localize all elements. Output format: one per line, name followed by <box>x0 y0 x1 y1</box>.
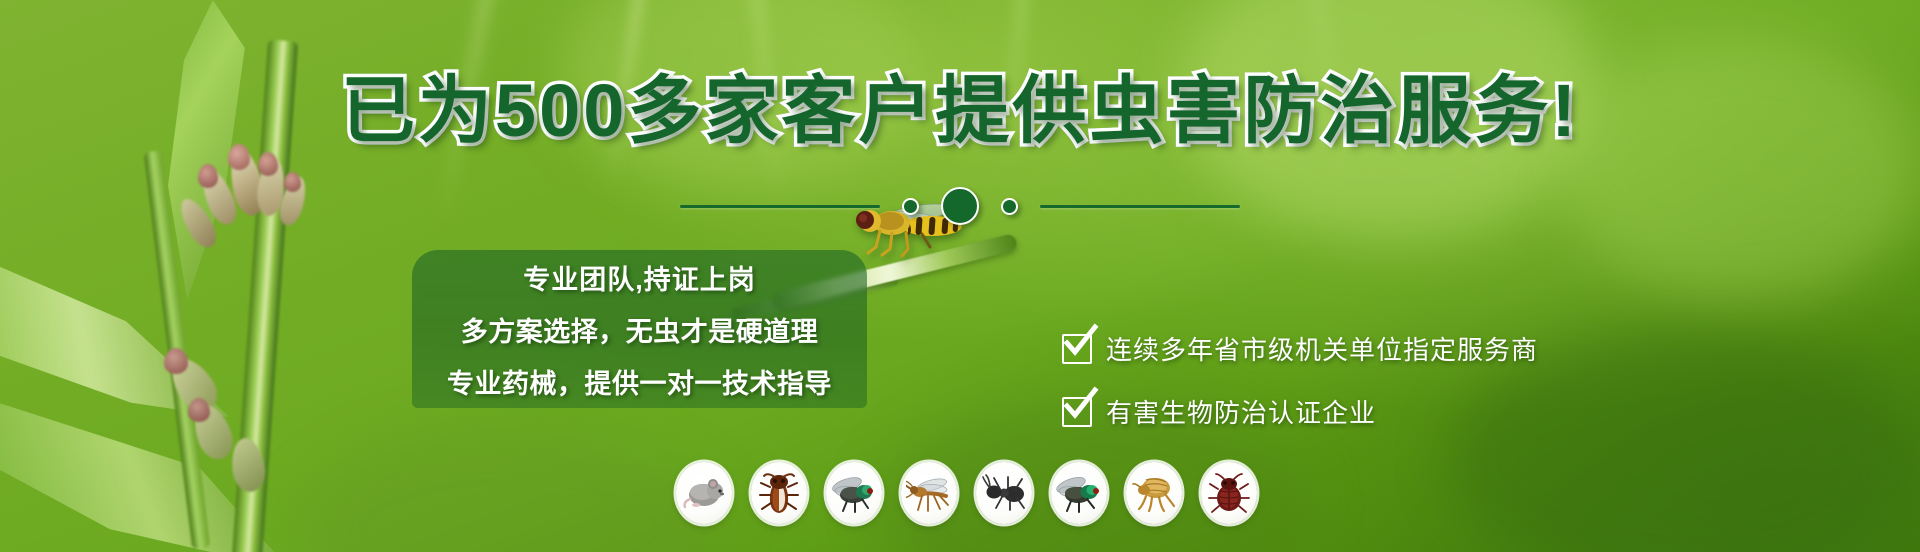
credentials-list: 连续多年省市级机关单位指定服务商 有害生物防治认证企业 <box>1062 330 1662 456</box>
slogan-line-3: 专业药械，提供一对一技术指导 <box>447 362 832 401</box>
pest-icon-strip <box>676 462 1257 524</box>
credential-text: 连续多年省市级机关单位指定服务商 <box>1106 330 1538 367</box>
decorative-divider <box>0 188 1920 224</box>
mouse-icon[interactable] <box>676 462 732 524</box>
cockroach-icon[interactable] <box>751 462 807 524</box>
headline-text: 已为500多家客户提供虫害防治服务! <box>341 69 1579 152</box>
slogan-line-1: 专业团队,持证上岗 <box>523 258 756 297</box>
flower-bud-tip <box>198 164 218 188</box>
slogan-panel: 专业团队,持证上岗 多方案选择，无虫才是硬道理 专业药械，提供一对一技术指导 <box>412 250 867 408</box>
slogan-line-2: 多方案选择，无虫才是硬道理 <box>461 310 819 349</box>
list-item: 有害生物防治认证企业 <box>1062 393 1662 430</box>
credential-text: 有害生物防治认证企业 <box>1106 393 1376 430</box>
seed-pod-tip <box>164 348 188 374</box>
list-item: 连续多年省市级机关单位指定服务商 <box>1062 330 1662 367</box>
bedbug-icon[interactable] <box>1201 462 1257 524</box>
fly-icon[interactable] <box>826 462 882 524</box>
seed-pod-tip <box>188 398 210 422</box>
divider-rule-right <box>1040 205 1240 208</box>
divider-rule-left <box>680 205 880 208</box>
ant-icon[interactable] <box>976 462 1032 524</box>
mosquito-icon[interactable] <box>901 462 957 524</box>
flower-bud-tip <box>258 152 278 176</box>
divider-dot-large <box>941 187 979 225</box>
divider-dot-small-left <box>902 198 919 215</box>
page-title: 已为500多家客户提供虫害防治服务! <box>0 74 1920 148</box>
divider-dot-small-right <box>1001 198 1018 215</box>
blowfly-icon[interactable] <box>1051 462 1107 524</box>
checkbox-checked-icon <box>1062 334 1092 364</box>
flea-icon[interactable] <box>1126 462 1182 524</box>
promo-banner: 已为500多家客户提供虫害防治服务! 专业团队,持证上岗 多方案选择，无虫才是硬… <box>0 0 1920 552</box>
checkbox-checked-icon <box>1062 397 1092 427</box>
